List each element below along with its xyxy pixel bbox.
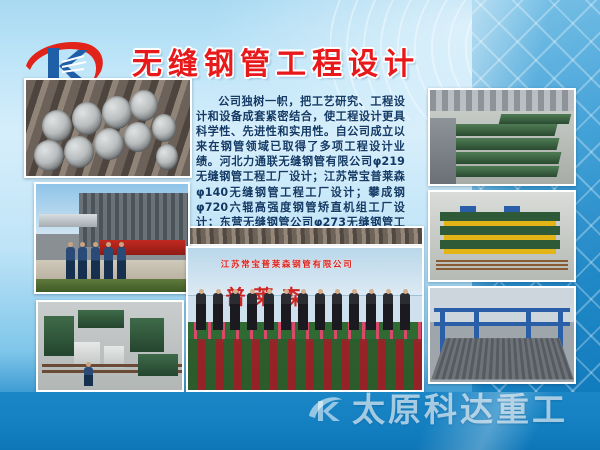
workshop-roof [430, 90, 574, 111]
mill-equipment [38, 302, 182, 390]
workshop-floor [430, 90, 574, 184]
hall-structure [430, 288, 574, 382]
photo-pipe-bundle-strip [186, 226, 424, 246]
person [78, 247, 87, 279]
pipe-end-faces [26, 80, 190, 176]
person [91, 247, 100, 279]
brochure-page: 无缝钢管工程设计 公司独树一帜，把工艺研究、工程设计和设备成套紧密结合，使工程设… [0, 0, 600, 450]
entrance-canopy [39, 214, 97, 227]
ceremony-scene: 江苏常宝普莱森钢管有限公司 普莱森 [188, 248, 422, 390]
photo-seamless-pipe-stack [24, 78, 192, 178]
person [104, 247, 113, 279]
banner-company-name: 江苏常宝普莱森钢管有限公司 [221, 258, 413, 275]
person [66, 247, 75, 279]
photo-green-machinery-workshop [428, 88, 576, 186]
photo-roller-tables [428, 190, 576, 282]
photo-cooling-bed-hall [428, 286, 576, 384]
footer-sheen [340, 392, 600, 450]
photo-opening-ceremony: 江苏常宝普莱森钢管有限公司 普莱森 [186, 246, 424, 392]
potted-plants [188, 339, 422, 390]
photo-production-line-overview [36, 300, 184, 392]
photo-factory-entrance-group [34, 182, 190, 294]
roller-table-scene [430, 192, 574, 280]
lawn [36, 279, 188, 292]
person [117, 247, 126, 279]
cooling-bed [431, 338, 574, 380]
